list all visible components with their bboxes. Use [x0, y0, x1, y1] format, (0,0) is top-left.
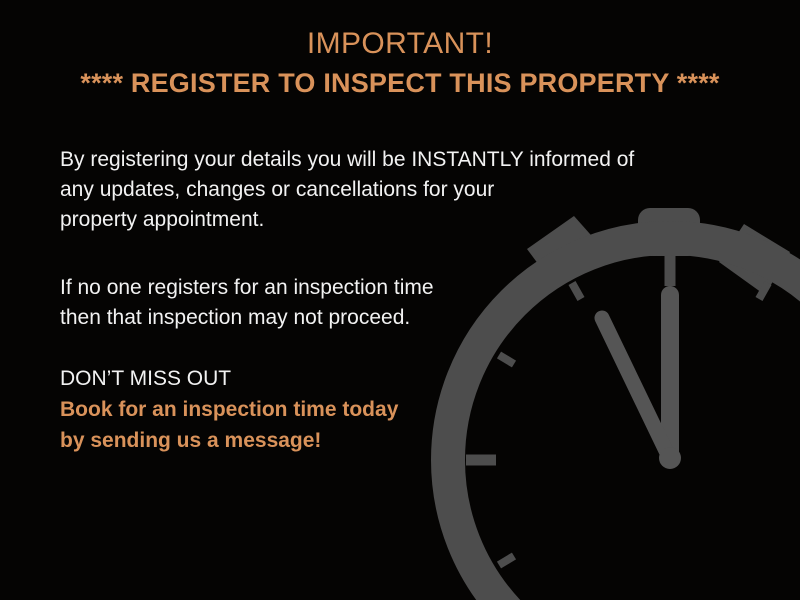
cta-dont-miss-out: DON’T MISS OUT: [60, 363, 720, 394]
body-copy-block: By registering your details you will be …: [60, 145, 720, 333]
slide-canvas: IMPORTANT! **** REGISTER TO INSPECT THIS…: [0, 0, 800, 600]
heading-important: IMPORTANT!: [0, 24, 800, 64]
paragraph-no-registrations: If no one registers for an inspection ti…: [60, 273, 720, 333]
heading-block: IMPORTANT! **** REGISTER TO INSPECT THIS…: [0, 24, 800, 102]
cta-book-inspection: Book for an inspection time today by sen…: [60, 394, 720, 456]
call-to-action-block: DON’T MISS OUT Book for an inspection ti…: [60, 363, 720, 456]
stopwatch-right-button: [719, 224, 790, 295]
heading-register-to-inspect: **** REGISTER TO INSPECT THIS PROPERTY *…: [0, 64, 800, 102]
paragraph-registering-details: By registering your details you will be …: [60, 145, 720, 235]
